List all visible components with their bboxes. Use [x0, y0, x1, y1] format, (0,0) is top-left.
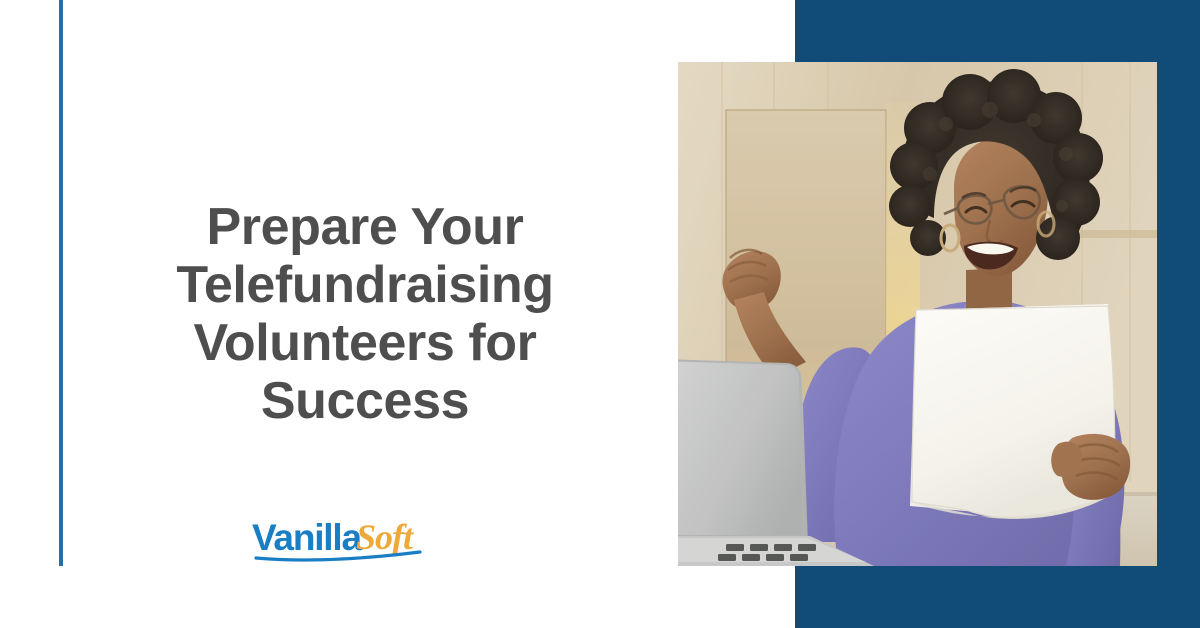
page-title: Prepare Your Telefundraising Volunteers …: [165, 198, 565, 431]
left-accent-bar: [59, 0, 63, 566]
svg-text:Vanilla: Vanilla: [252, 517, 362, 558]
hero-photo: [678, 62, 1157, 566]
promo-banner: Prepare Your Telefundraising Volunteers …: [0, 0, 1200, 628]
hero-photo-illustration: [678, 62, 1157, 566]
svg-text:Soft: Soft: [356, 517, 414, 557]
vanillasoft-logo[interactable]: Vanilla Soft: [252, 512, 448, 566]
vanillasoft-logo-mark: Vanilla Soft: [252, 512, 448, 566]
